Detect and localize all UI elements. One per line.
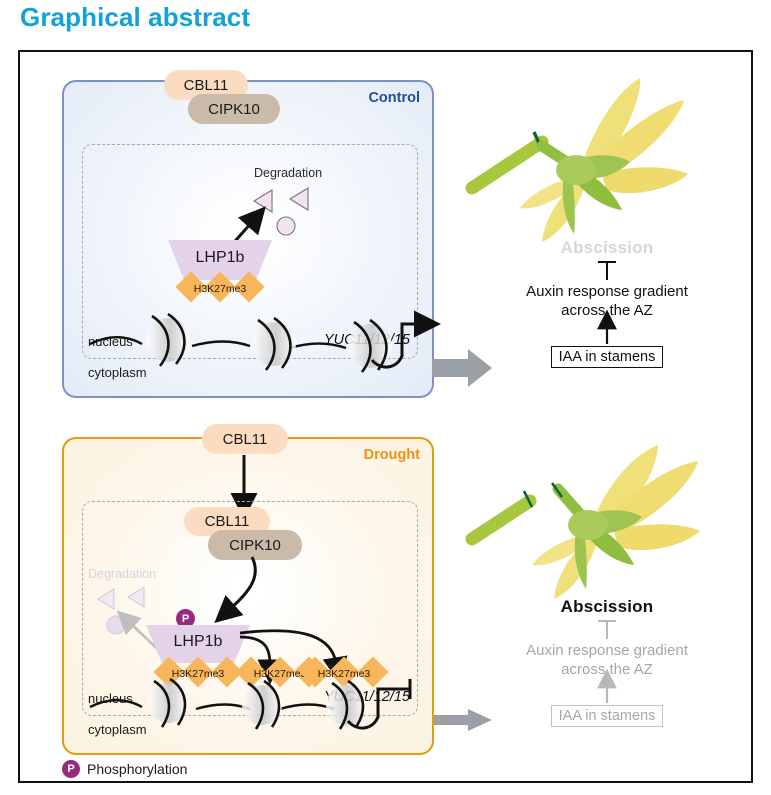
drought-iaa-box: IAA in stamens: [551, 705, 664, 727]
drought-chromatin: [84, 677, 424, 733]
figure-frame: Control CBL11 CIPK10 nucleus cytoplasm Y…: [18, 50, 753, 783]
control-auxin-line1: Auxin response gradient: [472, 282, 742, 301]
control-auxin-line2: across the AZ: [472, 301, 742, 320]
drought-auxin-line1: Auxin response gradient: [472, 641, 742, 660]
page-title: Graphical abstract: [20, 2, 250, 33]
control-degradation-label: Degradation: [254, 166, 322, 180]
control-cipk10-pill: CIPK10: [188, 94, 280, 124]
legend-phospho-label: Phosphorylation: [87, 761, 187, 777]
drought-cbl11-outer-pill: CBL11: [202, 424, 288, 454]
drought-flower-detached: [472, 427, 742, 597]
control-panel-tag: Control: [368, 90, 420, 106]
drought-abscission-label: Abscission: [472, 597, 742, 617]
control-cell-panel: Control CBL11 CIPK10 nucleus cytoplasm Y…: [62, 80, 434, 398]
control-inhibit-connector: [472, 258, 742, 282]
drought-promote-connector: [472, 679, 742, 705]
control-cascade: Abscission Auxin response gradient acros…: [472, 238, 742, 368]
legend-phospho-badge: P: [62, 760, 80, 778]
legend: P Phosphorylation: [62, 760, 187, 778]
control-chromatin: [84, 294, 424, 370]
control-iaa-box: IAA in stamens: [551, 346, 664, 368]
drought-lhp1b-label: LHP1b: [146, 633, 250, 651]
control-lhp1b-label: LHP1b: [168, 249, 272, 267]
drought-degradation-label: Degradation: [88, 567, 156, 581]
drought-panel-tag: Drought: [364, 447, 420, 463]
drought-cascade: Abscission Auxin response gradient acros…: [472, 597, 742, 727]
control-abscission-label: Abscission: [472, 238, 742, 258]
drought-inhibit-connector: [472, 617, 742, 641]
control-flower-attached: [472, 70, 742, 240]
drought-cipk10-pill: CIPK10: [208, 530, 302, 560]
drought-cell-panel: Drought CBL11 nucleus cytoplasm YUC11/12…: [62, 437, 434, 755]
drought-phosphorylation-arrow: [196, 557, 266, 623]
control-promote-connector: [472, 320, 742, 346]
drought-auxin-line2: across the AZ: [472, 660, 742, 679]
drought-import-arrow: [232, 455, 258, 507]
